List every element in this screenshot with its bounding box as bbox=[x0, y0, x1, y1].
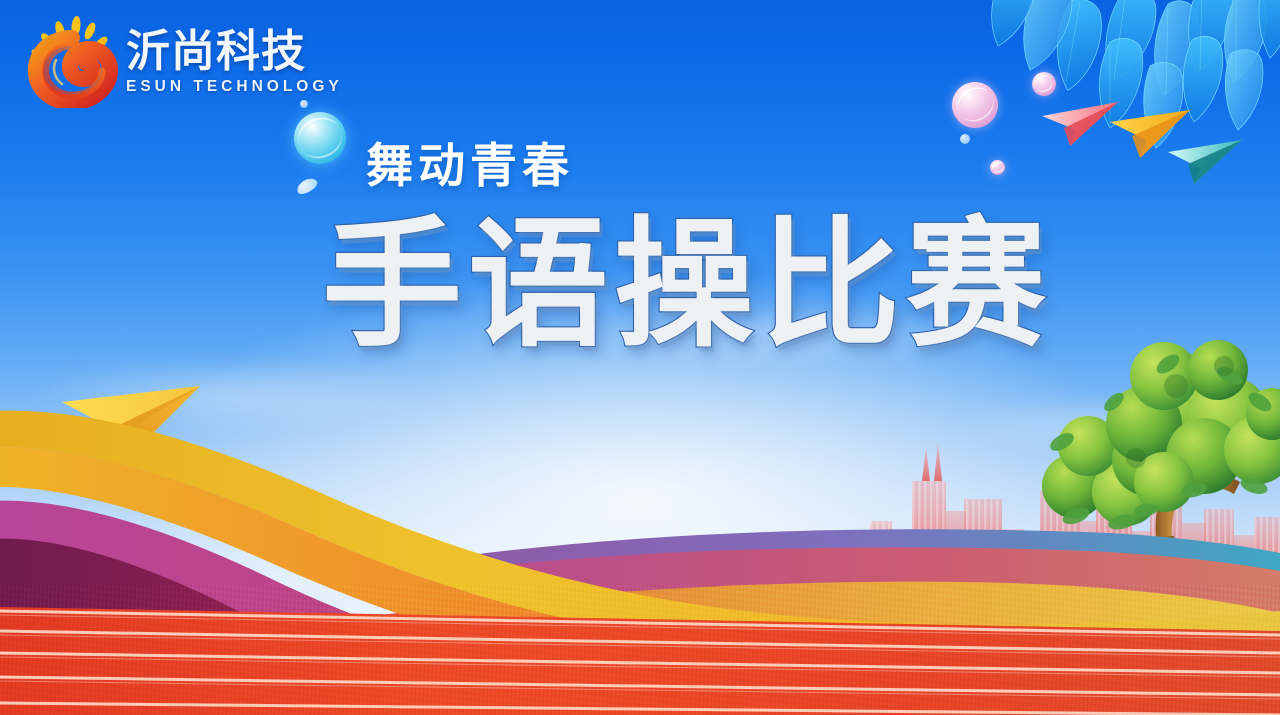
running-track bbox=[0, 585, 1280, 715]
bubble-orb-cyan-tiny bbox=[960, 134, 970, 144]
poster-subtitle: 舞动青春 bbox=[366, 127, 574, 196]
poster-canvas: 沂尚科技 ESUN TECHNOLOGY 舞动青春 手语操比赛 bbox=[0, 0, 1280, 715]
track-texture bbox=[0, 585, 1280, 715]
brand-logo[interactable]: 沂尚科技 ESUN TECHNOLOGY bbox=[22, 16, 343, 108]
brand-logo-text: 沂尚科技 ESUN TECHNOLOGY bbox=[126, 30, 343, 95]
bubble-orb-pink-small bbox=[1032, 72, 1056, 96]
brand-name-cn: 沂尚科技 bbox=[126, 30, 343, 74]
bubble-orb-pink-tiny bbox=[990, 160, 1005, 175]
esun-sun-swirl-logo-icon bbox=[22, 16, 122, 108]
brand-name-en: ESUN TECHNOLOGY bbox=[126, 79, 343, 95]
bubble-orb-cyan-large bbox=[294, 112, 346, 164]
bubble-orb-pink-large bbox=[952, 82, 998, 128]
paper-plane-teal bbox=[1166, 138, 1244, 191]
poster-main-title: 手语操比赛 bbox=[322, 216, 1052, 356]
